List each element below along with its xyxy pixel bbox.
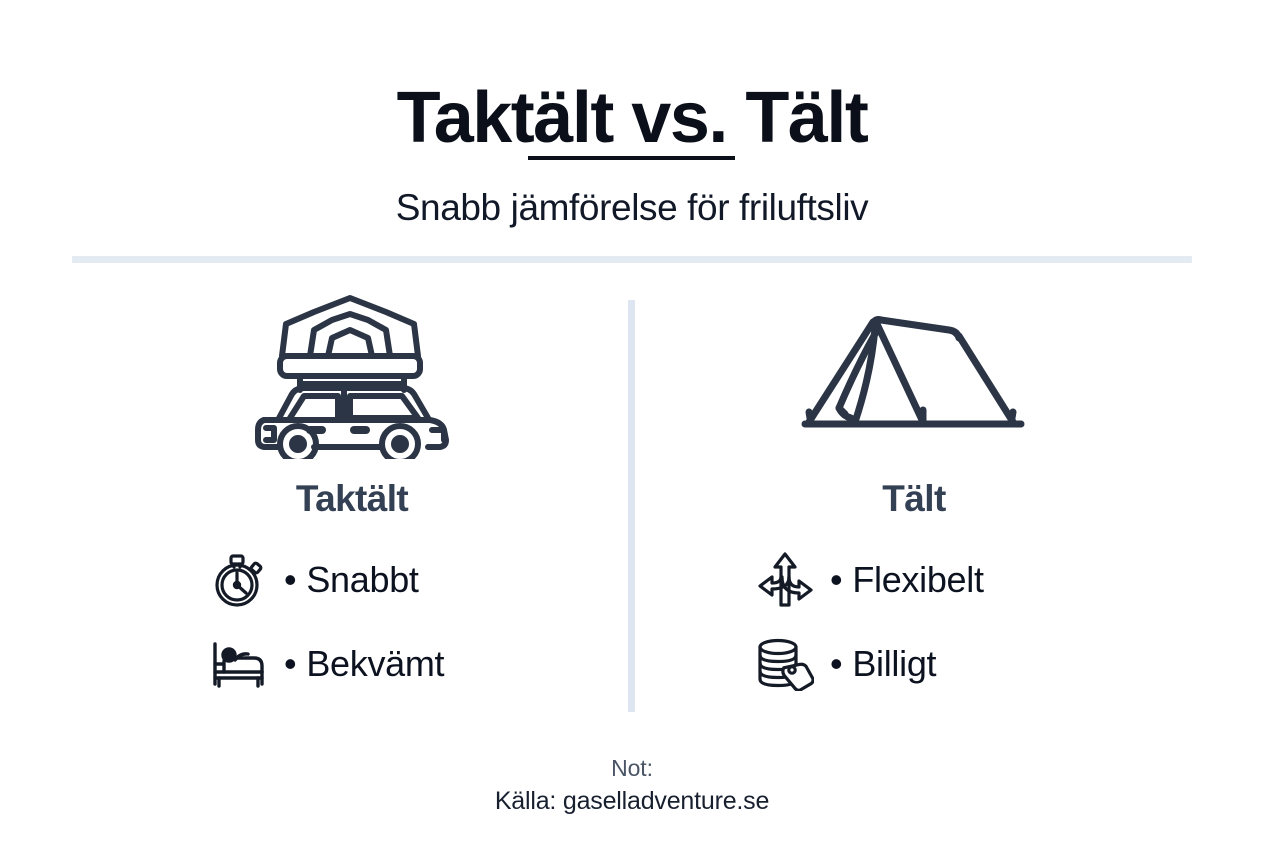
coins-price-tag-icon	[754, 633, 816, 695]
footer-source-label: Källa: gaselladventure.se	[0, 784, 1264, 818]
title-underline	[528, 156, 735, 160]
bullet-list-taktalt: •Snabbt	[72, 538, 632, 706]
column-title-taktalt: Taktält	[72, 476, 632, 522]
roof-tent-car-icon	[72, 286, 632, 466]
tent-icon	[634, 286, 1194, 466]
header-divider-rule	[72, 256, 1192, 263]
column-title-talt: Tält	[634, 476, 1194, 522]
page-subtitle: Snabb jämförelse för friluftsliv	[0, 184, 1264, 232]
bullet-dot: •	[284, 643, 296, 684]
page-title: Taktält vs. Tält	[0, 76, 1264, 160]
bullet-item-bekvamt: •Bekvämt	[72, 622, 632, 706]
footer-note-label: Not:	[0, 752, 1264, 784]
bullet-item-billigt: •Billigt	[634, 622, 1194, 706]
bullet-list-talt: •Flexibelt	[634, 538, 1194, 706]
footer: Not: Källa: gaselladventure.se	[0, 752, 1264, 818]
stopwatch-icon	[208, 549, 270, 611]
bullet-label-snabbt: •Snabbt	[284, 558, 419, 602]
bullet-dot: •	[830, 643, 842, 684]
bullet-dot: •	[284, 559, 296, 600]
bullet-label-text: Billigt	[852, 643, 936, 684]
bed-icon	[208, 633, 270, 695]
bullet-dot: •	[830, 559, 842, 600]
bullet-label-text: Flexibelt	[852, 559, 983, 600]
bullet-label-billigt: •Billigt	[830, 642, 936, 686]
bullet-label-bekvamt: •Bekvämt	[284, 642, 444, 686]
comparison-columns: Taktält	[0, 286, 1264, 726]
infographic-canvas: Taktält vs. Tält Snabb jämförelse för fr…	[0, 0, 1264, 848]
bullet-item-flexibelt: •Flexibelt	[634, 538, 1194, 622]
column-taktalt: Taktält	[72, 286, 632, 726]
three-way-arrow-icon	[754, 549, 816, 611]
bullet-label-text: Snabbt	[306, 559, 418, 600]
bullet-label-flexibelt: •Flexibelt	[830, 558, 984, 602]
bullet-item-snabbt: •Snabbt	[72, 538, 632, 622]
column-talt: Tält •Flexibelt	[634, 286, 1194, 726]
bullet-label-text: Bekvämt	[306, 643, 444, 684]
